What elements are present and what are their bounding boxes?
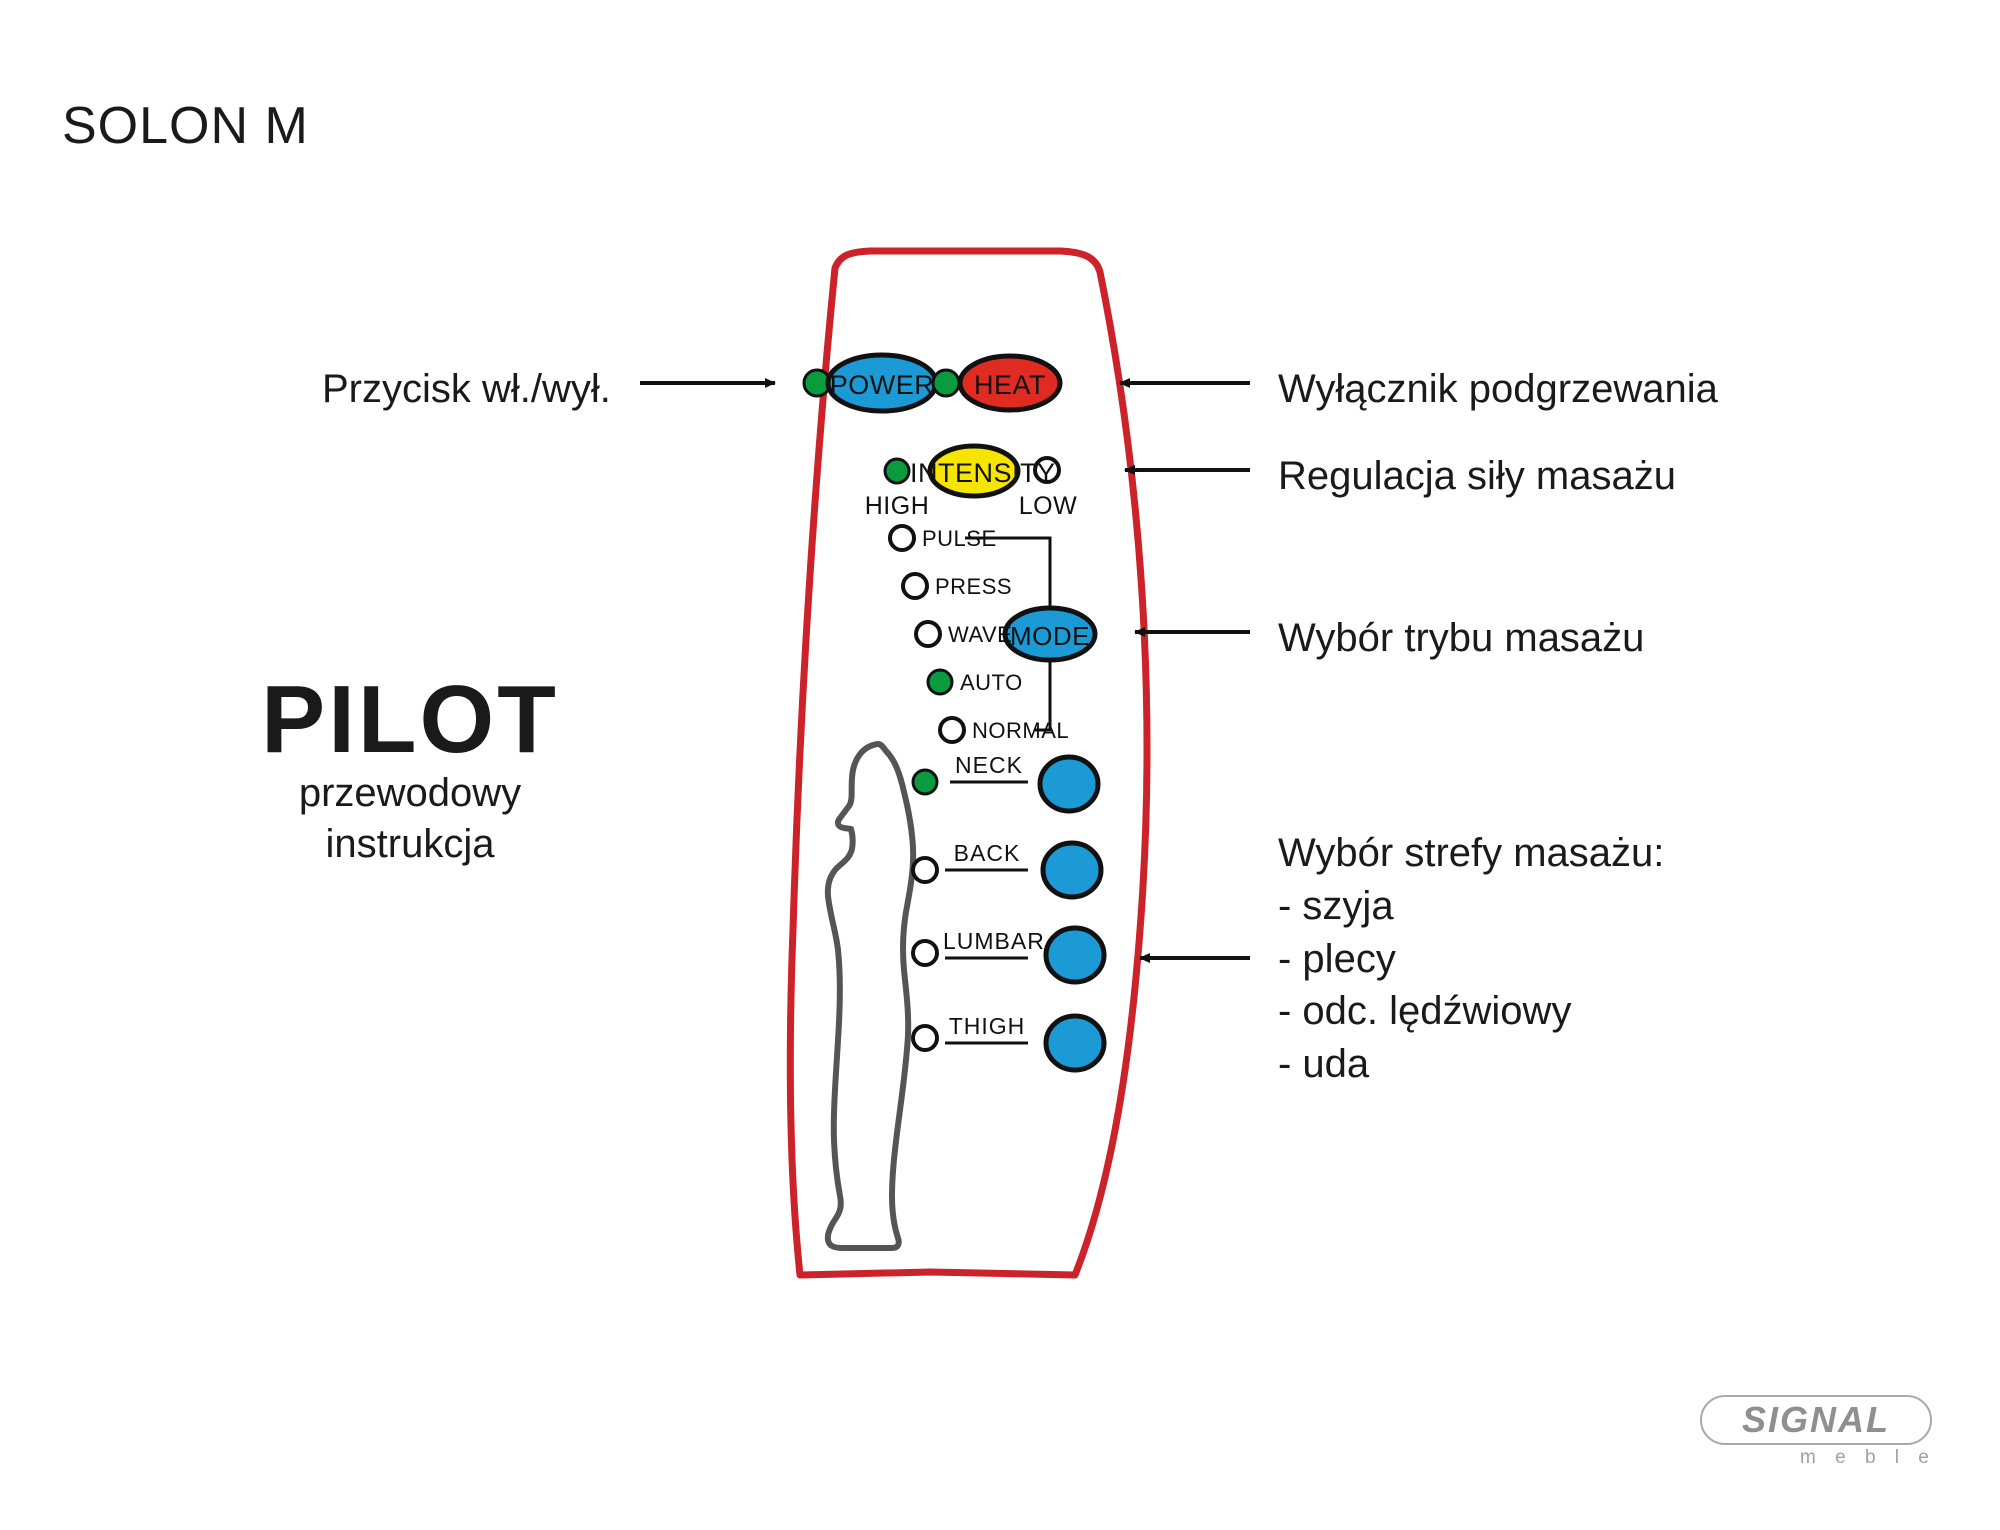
annotation-zones-title: Wybór strefy masażu:: [1278, 827, 1664, 880]
heat-button[interactable]: [960, 356, 1060, 410]
annotation-zone-item: - szyja: [1278, 880, 1664, 933]
intensity-high-led: [885, 459, 909, 483]
product-name-block: PILOT przewodowy instrukcja: [200, 672, 620, 870]
annotation-zone-item: - odc. lędźwiowy: [1278, 985, 1664, 1038]
zone-led-lumbar: [913, 941, 937, 965]
zone-button-lumbar[interactable]: [1046, 928, 1104, 982]
mode-led-wave: [916, 622, 940, 646]
annotation-heat: Wyłącznik podgrzewania: [1278, 363, 1718, 416]
zone-button-back[interactable]: [1043, 843, 1101, 897]
intensity-low-led: [1035, 458, 1059, 482]
zone-button-thigh[interactable]: [1046, 1016, 1104, 1070]
mode-led-pulse: [890, 526, 914, 550]
product-name: PILOT: [200, 672, 620, 768]
mode-led-auto: [928, 670, 952, 694]
heat-led: [933, 370, 959, 396]
power-button[interactable]: [828, 355, 936, 411]
product-subtitle-line1: przewodowy: [200, 768, 620, 819]
zone-led-thigh: [913, 1026, 937, 1050]
intensity-button[interactable]: [930, 446, 1018, 496]
mode-led-press: [903, 574, 927, 598]
product-subtitle-line2: instrukcja: [200, 819, 620, 870]
brand-logo: SIGNAL m e b l e: [1700, 1395, 1950, 1495]
zone-led-back: [913, 858, 937, 882]
zone-button-neck[interactable]: [1040, 757, 1098, 811]
annotation-mode: Wybór trybu masażu: [1278, 612, 1644, 665]
logo-tagline: m e b l e: [1800, 1447, 1936, 1469]
mode-button[interactable]: [1005, 608, 1095, 660]
logo-brand-text: SIGNAL: [1700, 1395, 1932, 1445]
page-title: SOLON M: [62, 100, 309, 152]
annotation-zones: Wybór strefy masażu: - szyja - plecy - o…: [1278, 827, 1664, 1091]
annotation-zone-item: - uda: [1278, 1038, 1664, 1091]
mode-led-normal: [940, 718, 964, 742]
zone-led-neck: [913, 770, 937, 794]
annotation-intensity: Regulacja siły masażu: [1278, 450, 1676, 503]
annotation-power: Przycisk wł./wył.: [322, 363, 611, 416]
annotation-zone-item: - plecy: [1278, 933, 1664, 986]
